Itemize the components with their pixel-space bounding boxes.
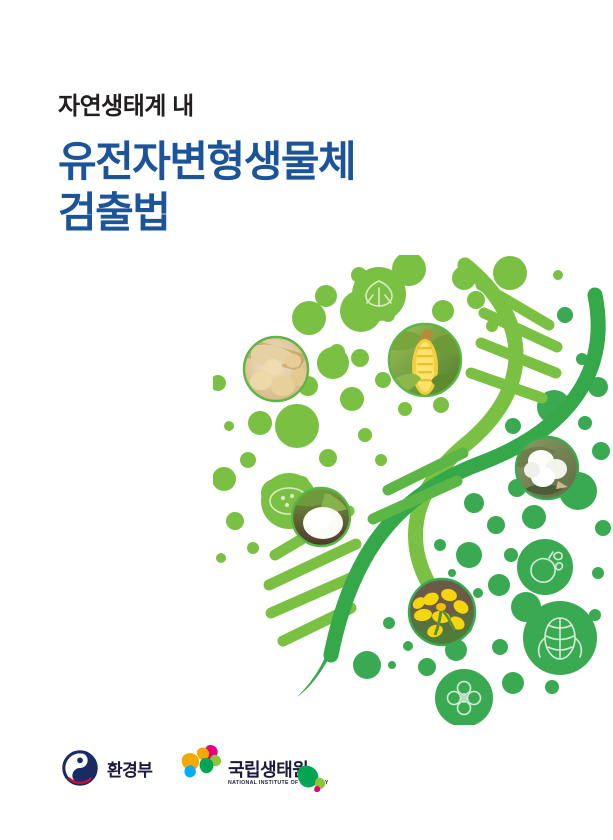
ministry-of-environment-logo: 환경부: [62, 750, 152, 786]
cover-graphic: [213, 255, 613, 725]
nie-leaf-mark-icon: [180, 744, 226, 778]
icon-circle-beet: [517, 539, 573, 595]
icon-circle-canola-blossom: [435, 669, 493, 725]
taegeuk-icon: [62, 750, 98, 786]
footer-logos: 환경부 국립생태원 NATIONAL INSTITUTE OF ECOLOGY: [0, 742, 613, 812]
nie-label-ko: 국립생태원: [228, 756, 308, 782]
national-institute-of-ecology-logo: 국립생태원 NATIONAL INSTITUTE OF ECOLOGY: [180, 744, 330, 798]
book-cover: 자연생태계 내 유전자변형생물체 검출법: [0, 0, 613, 840]
title-block: 자연생태계 내 유전자변형생물체 검출법: [58, 92, 528, 238]
cover-kicker: 자연생태계 내: [58, 92, 528, 122]
photo-circle-canola: [409, 577, 475, 645]
page-title: 유전자변형생물체 검출법: [58, 136, 528, 238]
icon-circle-corn-cob: [523, 601, 597, 675]
title-line-1: 유전자변형생물체: [58, 136, 528, 187]
nie-leaf-accent-icon: [298, 764, 328, 792]
photo-circle-radish: [292, 487, 350, 546]
icon-circle-cotton-boll: [352, 267, 406, 321]
title-line-2: 검출법: [58, 187, 528, 238]
photo-circle-cotton: [516, 437, 578, 499]
photo-circle-corn: [389, 324, 461, 396]
ministry-label: 환경부: [107, 756, 152, 781]
